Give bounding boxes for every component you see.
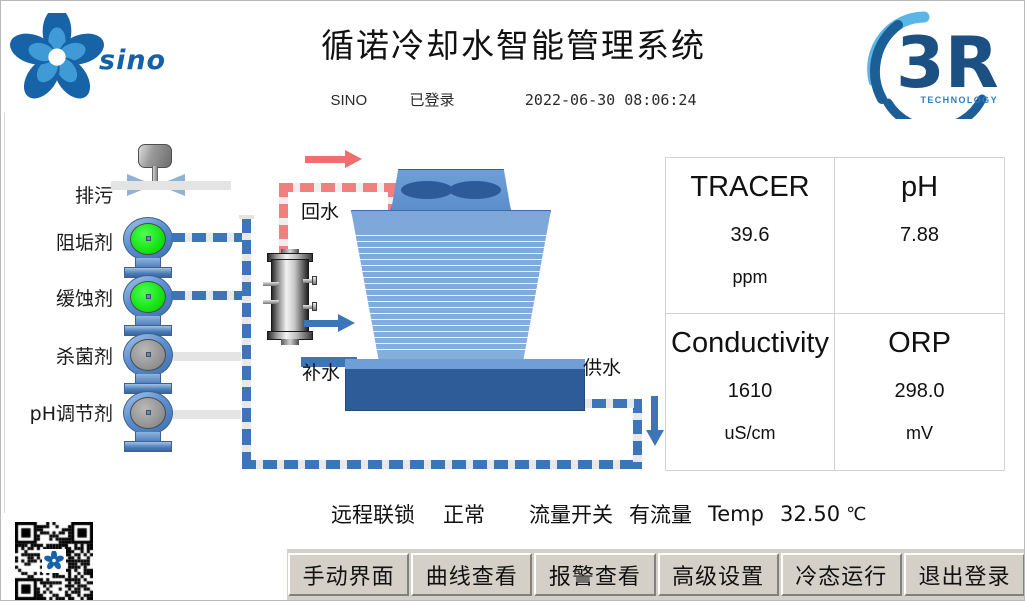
- pump-center-dot-icon: [146, 410, 151, 415]
- pipe-antiscalant-dosing: [171, 233, 251, 242]
- temp-label: Temp: [708, 502, 764, 526]
- 3r-technology-logo: 3R TECHNOLOGY: [862, 3, 1014, 119]
- label-return-water: 回水: [301, 197, 339, 224]
- pump-center-dot-icon: [146, 294, 151, 299]
- 3r-logo-subtext: TECHNOLOGY: [920, 95, 998, 105]
- reading-name: Conductivity: [671, 328, 829, 360]
- tower-basin-water-icon: [345, 359, 585, 369]
- feed-label-antiscalant: 阻垢剂: [1, 228, 113, 255]
- pump-antiscalant[interactable]: [119, 217, 177, 279]
- vessel-nozzle-left-lower-icon: [263, 300, 279, 304]
- interlock-value: 正常: [443, 499, 485, 529]
- left-divider: [4, 113, 5, 513]
- alarm-view-button[interactable]: 报警查看: [534, 553, 655, 596]
- reading-value: 7.88: [900, 224, 939, 247]
- feed-label-biocide: 杀菌剂: [1, 342, 113, 369]
- pump-center-dot-icon: [146, 352, 151, 357]
- reading-name: pH: [901, 172, 938, 204]
- cold-run-button[interactable]: 冷态运行: [781, 553, 902, 596]
- flow-switch-value: 有流量: [629, 499, 692, 529]
- vessel-nozzle-cap-lower-icon: [312, 302, 317, 311]
- pump-ph-adjust[interactable]: [119, 391, 177, 453]
- manual-interface-button[interactable]: 手动界面: [288, 553, 409, 596]
- reading-card-conductivity[interactable]: Conductivity 1610 uS/cm: [666, 314, 835, 470]
- hmi-screen: sino 循诺冷却水智能管理系统 SINO 已登录 2022-06-30 08:…: [0, 0, 1025, 601]
- header-login-status: 已登录: [410, 89, 455, 110]
- reading-card-tracer[interactable]: TRACER 39.6 ppm: [666, 158, 835, 314]
- label-supply-water: 供水: [583, 353, 621, 380]
- reading-value: 1610: [728, 380, 773, 403]
- supply-flow-arrow-head-icon: [646, 430, 664, 446]
- header: sino 循诺冷却水智能管理系统 SINO 已登录 2022-06-30 08:…: [1, 1, 1025, 121]
- pump-center-dot-icon: [146, 236, 151, 241]
- pipe-joint: [239, 215, 254, 219]
- feed-label-inhibitor: 缓蚀剂: [1, 284, 113, 311]
- reading-unit: mV: [906, 423, 933, 444]
- tower-fan-icon: [401, 181, 501, 199]
- pump-biocide[interactable]: [119, 333, 177, 395]
- bottom-status-bar: 远程联锁 正常 流量开关 有流量 Temp 32.50 ℃: [331, 497, 1021, 531]
- vessel-bottom-nozzle-icon: [281, 339, 299, 345]
- qr-code: [15, 522, 93, 600]
- qr-center-logo: [42, 549, 66, 573]
- toolbar: 手动界面 曲线查看 报警查看 高级设置 冷态运行 退出登录: [287, 548, 1025, 601]
- reading-name: ORP: [888, 328, 951, 360]
- pipe-inhibitor-dosing: [171, 291, 251, 300]
- pipe-dosing-riser: [242, 219, 251, 439]
- reading-value: 39.6: [731, 224, 770, 247]
- label-makeup-water: 补水: [302, 358, 340, 385]
- sino-flower-logo-icon: [44, 551, 64, 571]
- return-flow-arrow-head-icon: [345, 150, 362, 168]
- trend-view-button[interactable]: 曲线查看: [411, 553, 532, 596]
- cooling-tower[interactable]: [331, 169, 601, 419]
- reading-card-ph[interactable]: pH 7.88: [835, 158, 1004, 314]
- logout-button[interactable]: 退出登录: [904, 553, 1025, 596]
- valve-actuator-icon: [138, 144, 172, 168]
- pump-inhibitor[interactable]: [119, 275, 177, 337]
- pump-base-icon: [124, 441, 172, 452]
- header-user: SINO: [331, 92, 368, 109]
- fan-blade-left: [401, 181, 453, 199]
- reading-name: TRACER: [690, 172, 809, 204]
- reading-unit: ppm: [732, 267, 767, 288]
- pipe-blowdown: [111, 181, 231, 190]
- feed-label-ph-adjust: pH调节剂: [1, 399, 113, 426]
- temp-unit: ℃: [846, 504, 866, 525]
- supply-flow-arrow-shaft: [651, 396, 658, 432]
- interlock-label: 远程联锁: [331, 499, 415, 529]
- advanced-settings-button[interactable]: 高级设置: [658, 553, 779, 596]
- pipe-biocide: [173, 352, 241, 361]
- pipe-ph-adjust: [173, 410, 241, 419]
- svg-text:3R: 3R: [896, 22, 999, 104]
- vessel-nozzle-left-upper-icon: [263, 282, 279, 286]
- temp-value: 32.50: [780, 502, 840, 526]
- feed-label-blowdown: 排污: [1, 181, 113, 208]
- pipe-supply-riser-right: [633, 399, 642, 469]
- fan-blade-right: [449, 181, 501, 199]
- reading-card-orp[interactable]: ORP 298.0 mV: [835, 314, 1004, 470]
- vessel-nozzle-cap-upper-icon: [312, 276, 317, 285]
- reading-unit: uS/cm: [724, 423, 775, 444]
- pipe-supply-bottom: [242, 460, 642, 469]
- tower-louvers-icon: [351, 235, 551, 355]
- return-flow-arrow-shaft: [305, 156, 347, 163]
- header-datetime: 2022-06-30 08:06:24: [525, 91, 697, 109]
- reading-value: 298.0: [894, 380, 944, 403]
- heat-exchanger-vessel[interactable]: [263, 249, 317, 345]
- flow-switch-label: 流量开关: [529, 499, 613, 529]
- readings-panel: TRACER 39.6 ppm pH 7.88 Conductivity 161…: [665, 157, 1005, 471]
